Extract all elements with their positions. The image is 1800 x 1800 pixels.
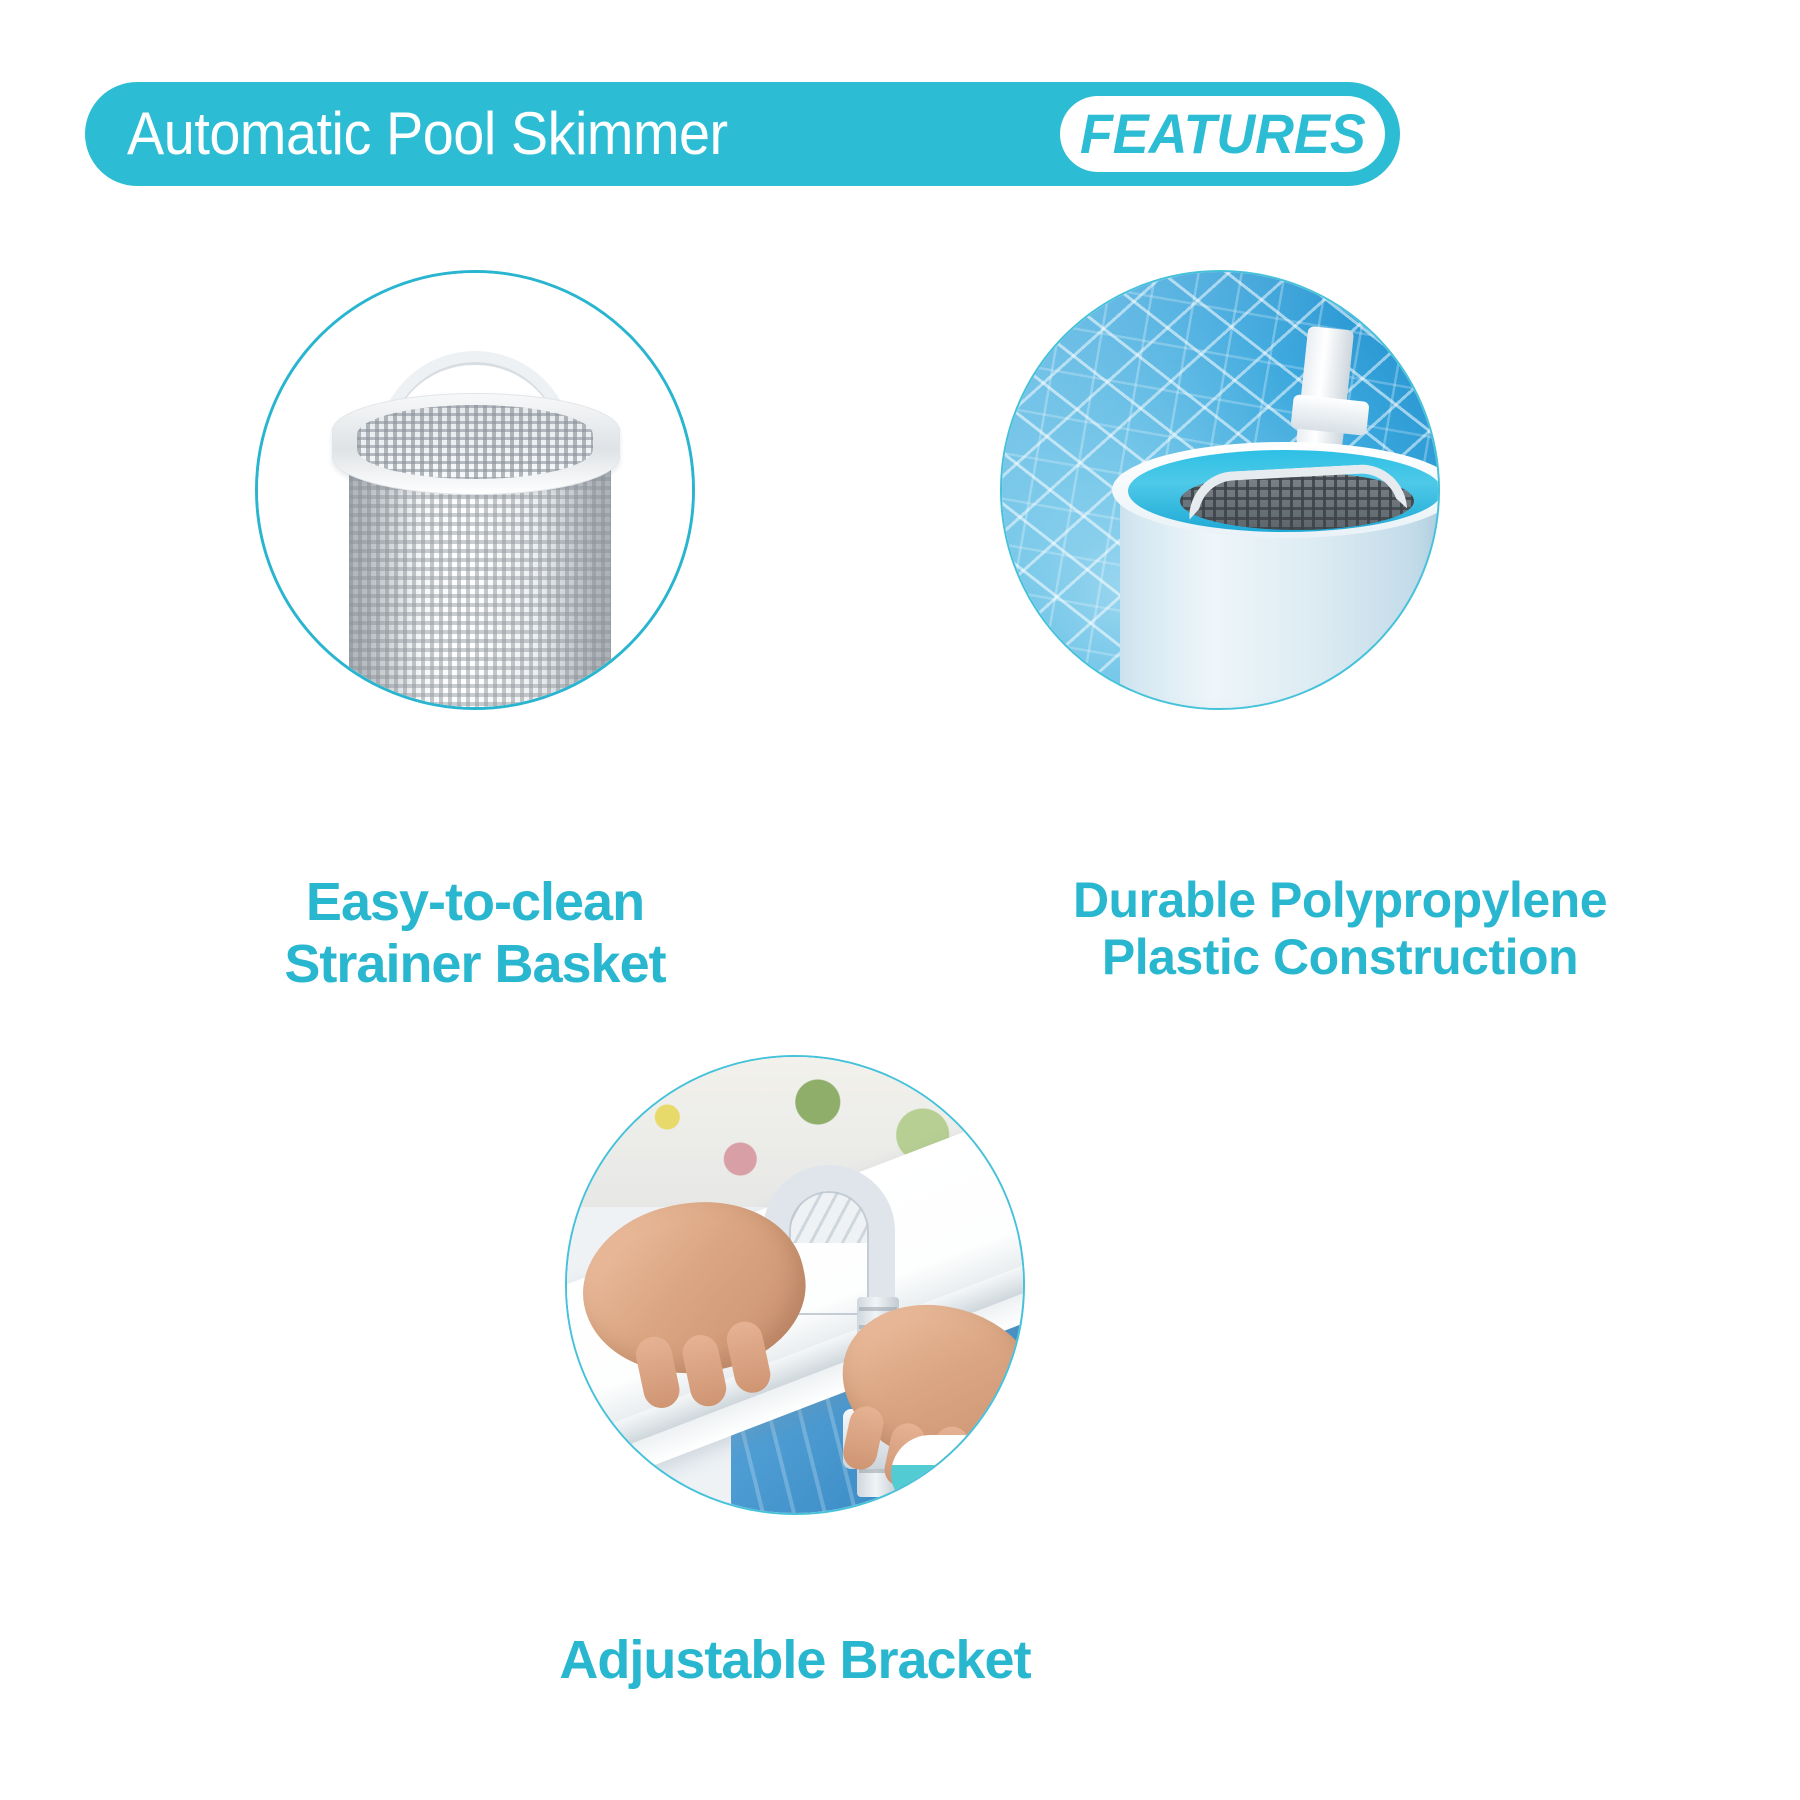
feature-image-adjustable-bracket [565, 1055, 1025, 1515]
strainer-basket-illustration [258, 273, 692, 707]
feature-image-plastic-construction [1000, 270, 1440, 710]
basket-mesh-floor [357, 405, 593, 479]
pool-skimmer-photo [1002, 272, 1438, 708]
features-badge-label: FEATURES [1080, 106, 1366, 162]
feature-caption-strainer-basket: Easy-to-clean Strainer Basket [175, 872, 775, 995]
header-bar: Automatic Pool Skimmer FEATURES [85, 82, 1400, 186]
page-title: Automatic Pool Skimmer [127, 104, 728, 164]
skimmer-float-edge [891, 1435, 1001, 1507]
feature-caption-adjustable-bracket: Adjustable Bracket [495, 1630, 1095, 1692]
feature-image-strainer-basket [255, 270, 695, 710]
bracket-install-photo [567, 1057, 1023, 1513]
feature-caption-plastic-construction: Durable Polypropylene Plastic Constructi… [1020, 872, 1660, 986]
features-badge: FEATURES [1060, 96, 1385, 172]
